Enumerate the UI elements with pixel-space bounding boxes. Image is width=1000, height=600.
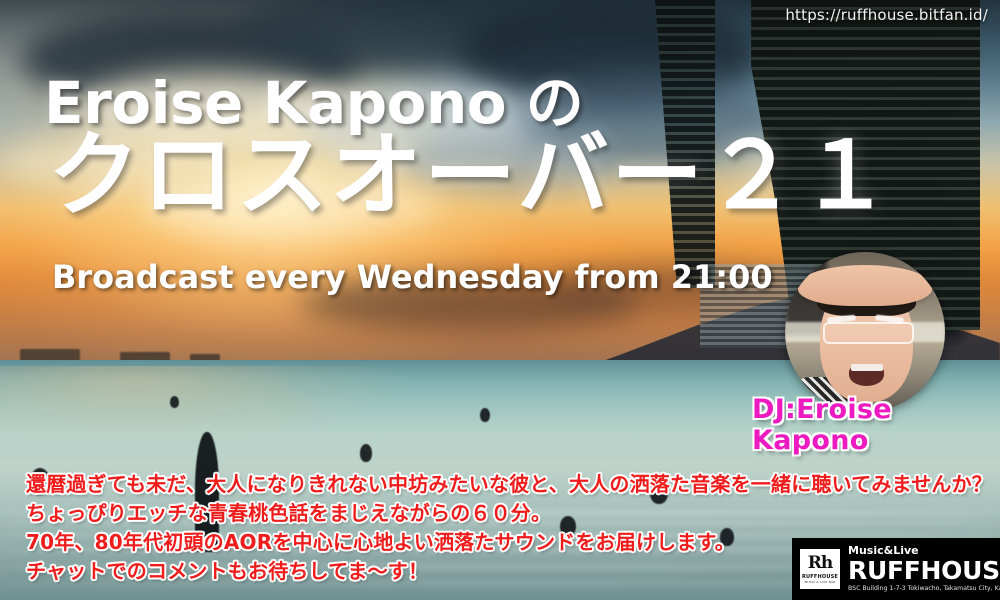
ruffhouse-logo-icon: Rh RUFFHOUSE MUSIC & LIVE BAR [800,549,840,589]
page-title-japanese: クロスオーバー２１ [48,128,893,225]
description-block: 還暦過ぎても未だ、大人になりきれない中坊みたいな彼と、大人の洒落た音楽を一緒に聴… [26,470,816,586]
surfer-silhouette [480,408,490,422]
site-url[interactable]: https://ruffhouse.bitfan.id/ [785,6,988,24]
dj-glasses [823,322,913,344]
description-line: チャットでのコメントもお待ちしてま～す！ [26,557,816,586]
dj-portrait-avatar [785,252,945,412]
logo-mark-subtext: MUSIC & LIVE BAR [805,580,836,584]
description-line: ちょっぴりエッチな青春桃色話をまじえながらの６０分。 [26,499,816,528]
logo-brand-name: RUFFHOUSE [848,558,994,583]
description-line: 還暦過ぎても未だ、大人になりきれない中坊みたいな彼と、大人の洒落た音楽を一緒に聴… [26,470,816,499]
surfer-silhouette [170,396,179,408]
broadcast-poster: https://ruffhouse.bitfan.id/ Eroise Kapo… [0,0,1000,600]
description-line: 70年、80年代初頭のAORを中心に心地よい洒落たサウンドをお届けします。 [26,528,816,557]
dj-name-label: DJ:Eroise Kapono [752,394,1000,456]
dj-teeth [851,364,883,371]
logo-monogram: Rh [808,555,833,572]
dj-raised-arm [798,265,932,307]
broadcast-schedule: Broadcast every Wednesday from 21:00 [52,258,773,296]
ruffhouse-logo-panel[interactable]: Rh RUFFHOUSE MUSIC & LIVE BAR Music&Live… [792,538,1000,600]
surfer-silhouette [360,444,372,462]
ruffhouse-logo-text: Music&Live RUFFHOUSE BSC Building 1-7-3 … [848,545,994,592]
logo-address: BSC Building 1-7-3 Tokiwacho, Takamatsu … [848,585,994,593]
